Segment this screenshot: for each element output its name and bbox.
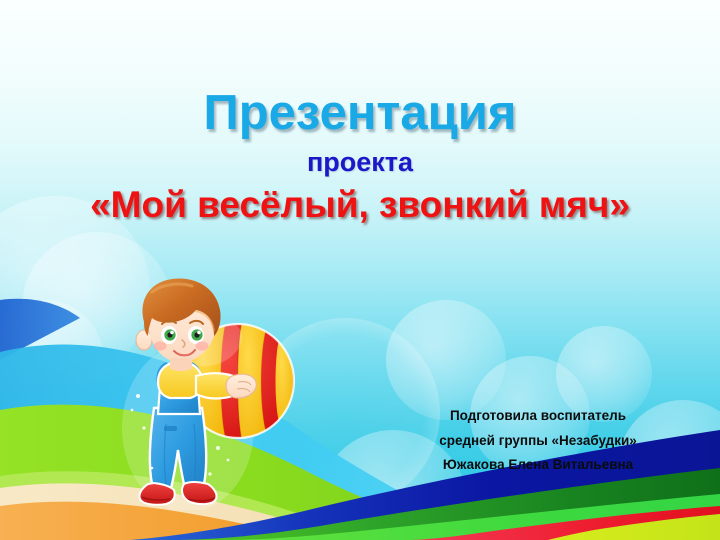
author-group-line: средней группы «Незабудки» — [393, 429, 683, 454]
title-block: Презентация проекта «Мой весёлый, звонки… — [0, 88, 720, 225]
ear — [136, 330, 152, 350]
author-block: Подготовила воспитатель средней группы «… — [393, 404, 683, 478]
boy-holding-ball-illustration — [92, 278, 302, 510]
presentation-slide: Презентация проекта «Мой весёлый, звонки… — [0, 0, 720, 540]
author-name-line: Южакова Елена Витальевна — [393, 453, 683, 478]
subtitle-project-label: проекта — [0, 148, 720, 178]
page-title: Презентация — [0, 88, 720, 139]
author-role-line: Подготовила воспитатель — [393, 404, 683, 429]
eye-right — [188, 326, 204, 344]
cheek — [154, 341, 167, 350]
subtitle-project-name: «Мой весёлый, звонкий мяч» — [0, 185, 720, 226]
eye-left — [161, 326, 177, 344]
cheek — [196, 341, 209, 350]
